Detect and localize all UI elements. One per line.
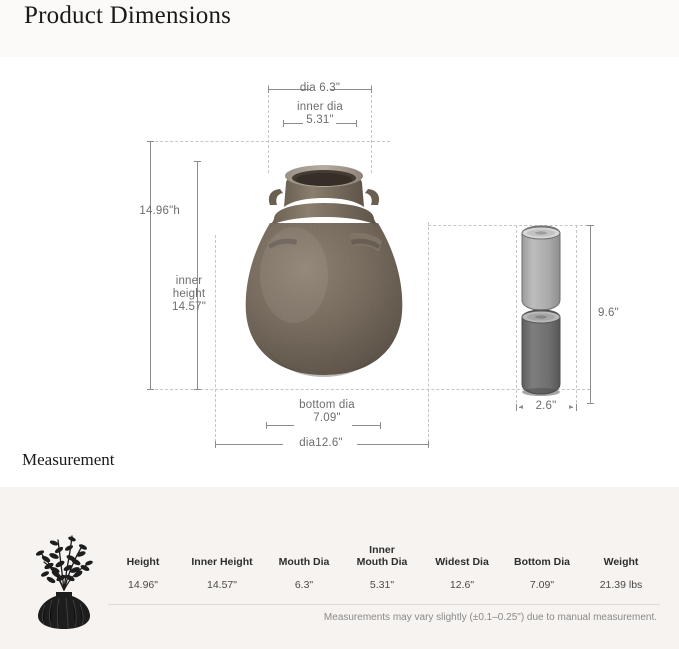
table-value-bottom-dia: 7.09" [502,579,582,591]
table-header-bottom-dia: Bottom Dia [502,556,582,570]
tick-inner-height-top [194,161,201,162]
tick-bottom-dia-left [266,422,267,429]
table-header-mouth-dia: Mouth Dia [266,556,342,570]
tick-height-bottom [147,389,154,390]
plant-vase-icon [18,512,110,630]
tick-can-width-right [576,404,577,411]
measurement-disclaimer: Measurements may vary slightly (±0.1–0.2… [324,612,657,623]
label-height: 14.96"h [118,205,180,218]
tick-can-width-left [516,404,517,411]
can-comparison [515,222,585,387]
table-header-widest-dia: Widest Dia [422,556,502,570]
tick-inner-dia-left [283,120,284,127]
tick-can-height-top [587,225,594,226]
label-can-height: 9.6" [598,307,638,320]
dimension-diagram: dia 6.3" inner dia 5.31" 14.96"h inner h… [0,57,679,487]
table-header-row: Height Inner Height Mouth Dia Inner Mout… [108,540,660,570]
label-widest-dia: dia12.6" [283,437,359,450]
measure-line-can-height [590,225,591,403]
table-value-mouth-dia: 6.3" [266,579,342,591]
label-can-width: 2.6" [523,400,569,413]
table-value-height: 14.96" [108,579,178,591]
measurement-section-title: Measurement [22,450,115,470]
tick-can-height-bottom [587,403,594,404]
table-data-row: 14.96" 14.57" 6.3" 5.31" 12.6" 7.09" 21.… [108,570,660,600]
ceramic-pot-vase [222,135,427,390]
label-mouth-dia: dia 6.3" [290,82,350,95]
label-bottom-dia: bottom dia 7.09" [272,399,382,425]
tick-inner-height-bottom [194,389,201,390]
guide-bottom-right [428,389,429,447]
measurement-table: Height Inner Height Mouth Dia Inner Mout… [108,540,660,600]
page-title: Product Dimensions [24,2,231,30]
table-header-height: Height [108,556,178,570]
tick-mouth-left [268,86,269,93]
label-inner-height: inner height 14.57" [162,275,216,314]
table-header-weight: Weight [582,556,660,570]
tick-widest-right [428,441,429,448]
table-value-weight: 21.39 lbs [582,579,660,591]
table-value-widest-dia: 12.6" [422,579,502,591]
tick-widest-left [215,441,216,448]
measure-line-bottom-dia-left [266,425,294,426]
measure-line-bottom-dia-right [352,425,380,426]
measure-line-widest-left [215,444,283,445]
tick-mouth-right [371,86,372,93]
measure-line-height [150,141,151,389]
measure-line-inner-dia-right [336,123,356,124]
tick-inner-dia-right [356,120,357,127]
table-value-inner-mouth-dia: 5.31" [342,579,422,591]
guide-bottom-left [215,389,216,447]
table-divider [108,604,660,605]
table-header-inner-mouth-dia: Inner Mouth Dia [342,544,422,570]
measure-line-widest-right [357,444,428,445]
tick-bottom-dia-right [380,422,381,429]
table-value-inner-height: 14.57" [178,579,266,591]
table-header-inner-height: Inner Height [178,556,266,570]
measure-line-inner-dia-left [283,123,303,124]
tick-height-top [147,141,154,142]
